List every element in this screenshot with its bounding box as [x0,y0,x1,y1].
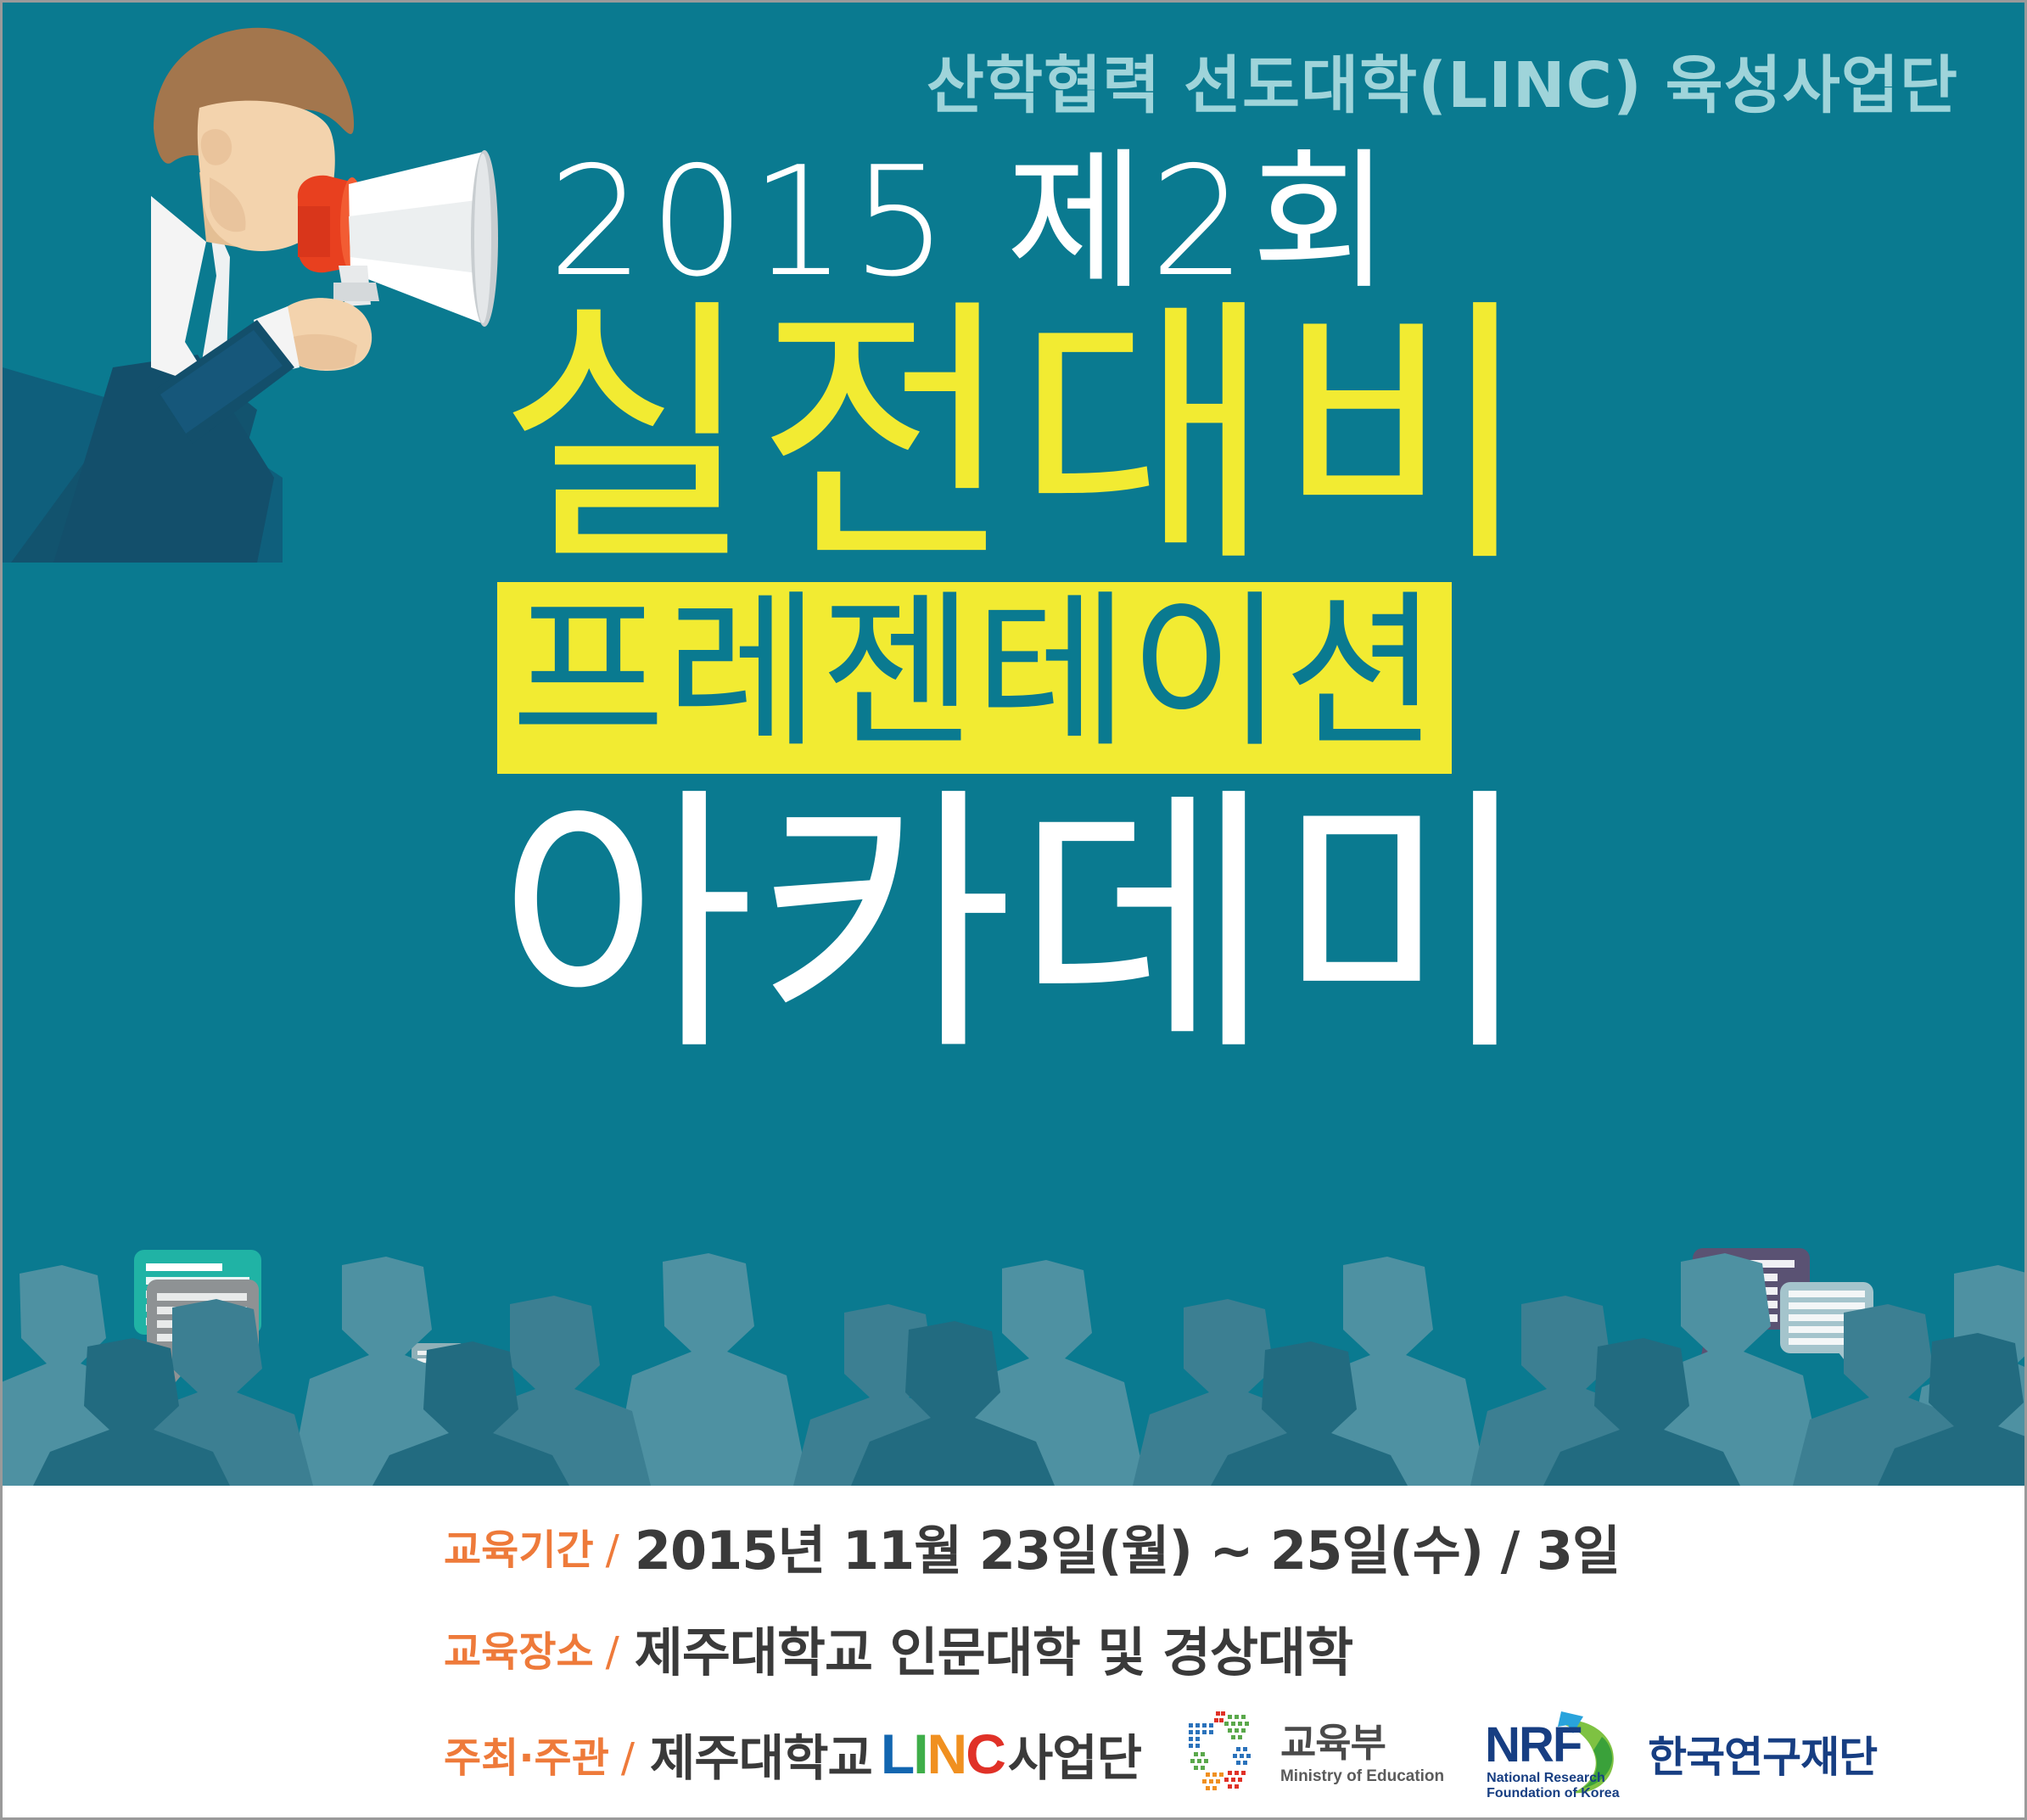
linc-letter-l: L [881,1722,913,1785]
ministry-of-education-logo: 교육부 Ministry of Education [1175,1710,1444,1798]
nrf-abbr: NRF [1485,1716,1581,1773]
info-value-period: 2015년 11월 23일(월) ~ 25일(수) / 3일 [635,1508,1620,1584]
moe-pinwheel-icon [1175,1710,1270,1798]
linc-letter-c: C [966,1722,1005,1785]
info-label-venue-text: 교육장소 [444,1628,594,1676]
info-row-host: 주최·주관/ 제주대학교 LINC 사업단 [444,1708,1877,1800]
nrf-mark-icon: NRF National ResearchFoundation of Korea [1483,1708,1644,1800]
audience-silhouettes [3,1180,2027,1486]
moe-name-ko: 교육부 [1280,1723,1444,1762]
info-label-period: 교육기간/ [444,1516,623,1576]
moe-text-block: 교육부 Ministry of Education [1280,1723,1444,1784]
linc-wordmark: LINC [881,1722,1005,1786]
info-label-host-text: 주최·주관 [444,1734,609,1782]
title-line-highlight: 프레젠테이션 [511,591,1438,755]
info-label-period-slash: / [594,1526,623,1574]
nrf-logo: NRF National ResearchFoundation of Korea… [1483,1708,1877,1800]
info-value-host-suffix: 사업단 [1008,1718,1141,1789]
organizer-header: 산학협력 선도대학(LINC) 육성사업단 [927,35,1958,126]
title-line-white: 아카데미 [497,789,1600,1063]
info-label-host-slash: / [609,1734,638,1782]
megaphone-speaker-illustration [3,3,546,563]
moe-name-en: Ministry of Education [1280,1768,1444,1784]
nrf-name-ko: 한국연구재단 [1648,1723,1877,1784]
info-row-period: 교육기간/ 2015년 11월 23일(월) ~ 25일(수) / 3일 [444,1508,1620,1584]
hero-section: 산학협력 선도대학(LINC) 육성사업단 2015 제2회 실전대비 프레젠테… [3,3,2027,1486]
title-line-yellow: 실전대비 [497,303,1600,572]
nrf-name-en-line2: Foundation of Korea [1487,1786,1619,1800]
linc-letter-i: I [913,1722,927,1785]
info-label-host: 주최·주관/ [444,1724,638,1784]
info-value-host-prefix: 제주대학교 [650,1718,872,1789]
info-panel: 교육기간/ 2015년 11월 23일(월) ~ 25일(수) / 3일 교육장… [3,1486,2027,1820]
event-poster: 산학협력 선도대학(LINC) 육성사업단 2015 제2회 실전대비 프레젠테… [0,0,2027,1820]
nrf-name-en-line1: National Research [1487,1771,1605,1785]
info-label-period-text: 교육기간 [444,1526,594,1574]
poster-title-block: 2015 제2회 실전대비 프레젠테이션 아카데미 [497,147,1600,1063]
linc-letter-n: N [927,1722,966,1785]
info-label-venue-slash: / [594,1628,623,1676]
info-value-venue: 제주대학교 인문대학 및 경상대학 [635,1610,1352,1686]
info-label-venue: 교육장소/ [444,1618,623,1677]
nrf-name-en: National ResearchFoundation of Korea [1487,1771,1619,1802]
title-highlight-box: 프레젠테이션 [497,582,1452,774]
info-row-venue: 교육장소/ 제주대학교 인문대학 및 경상대학 [444,1610,1352,1686]
